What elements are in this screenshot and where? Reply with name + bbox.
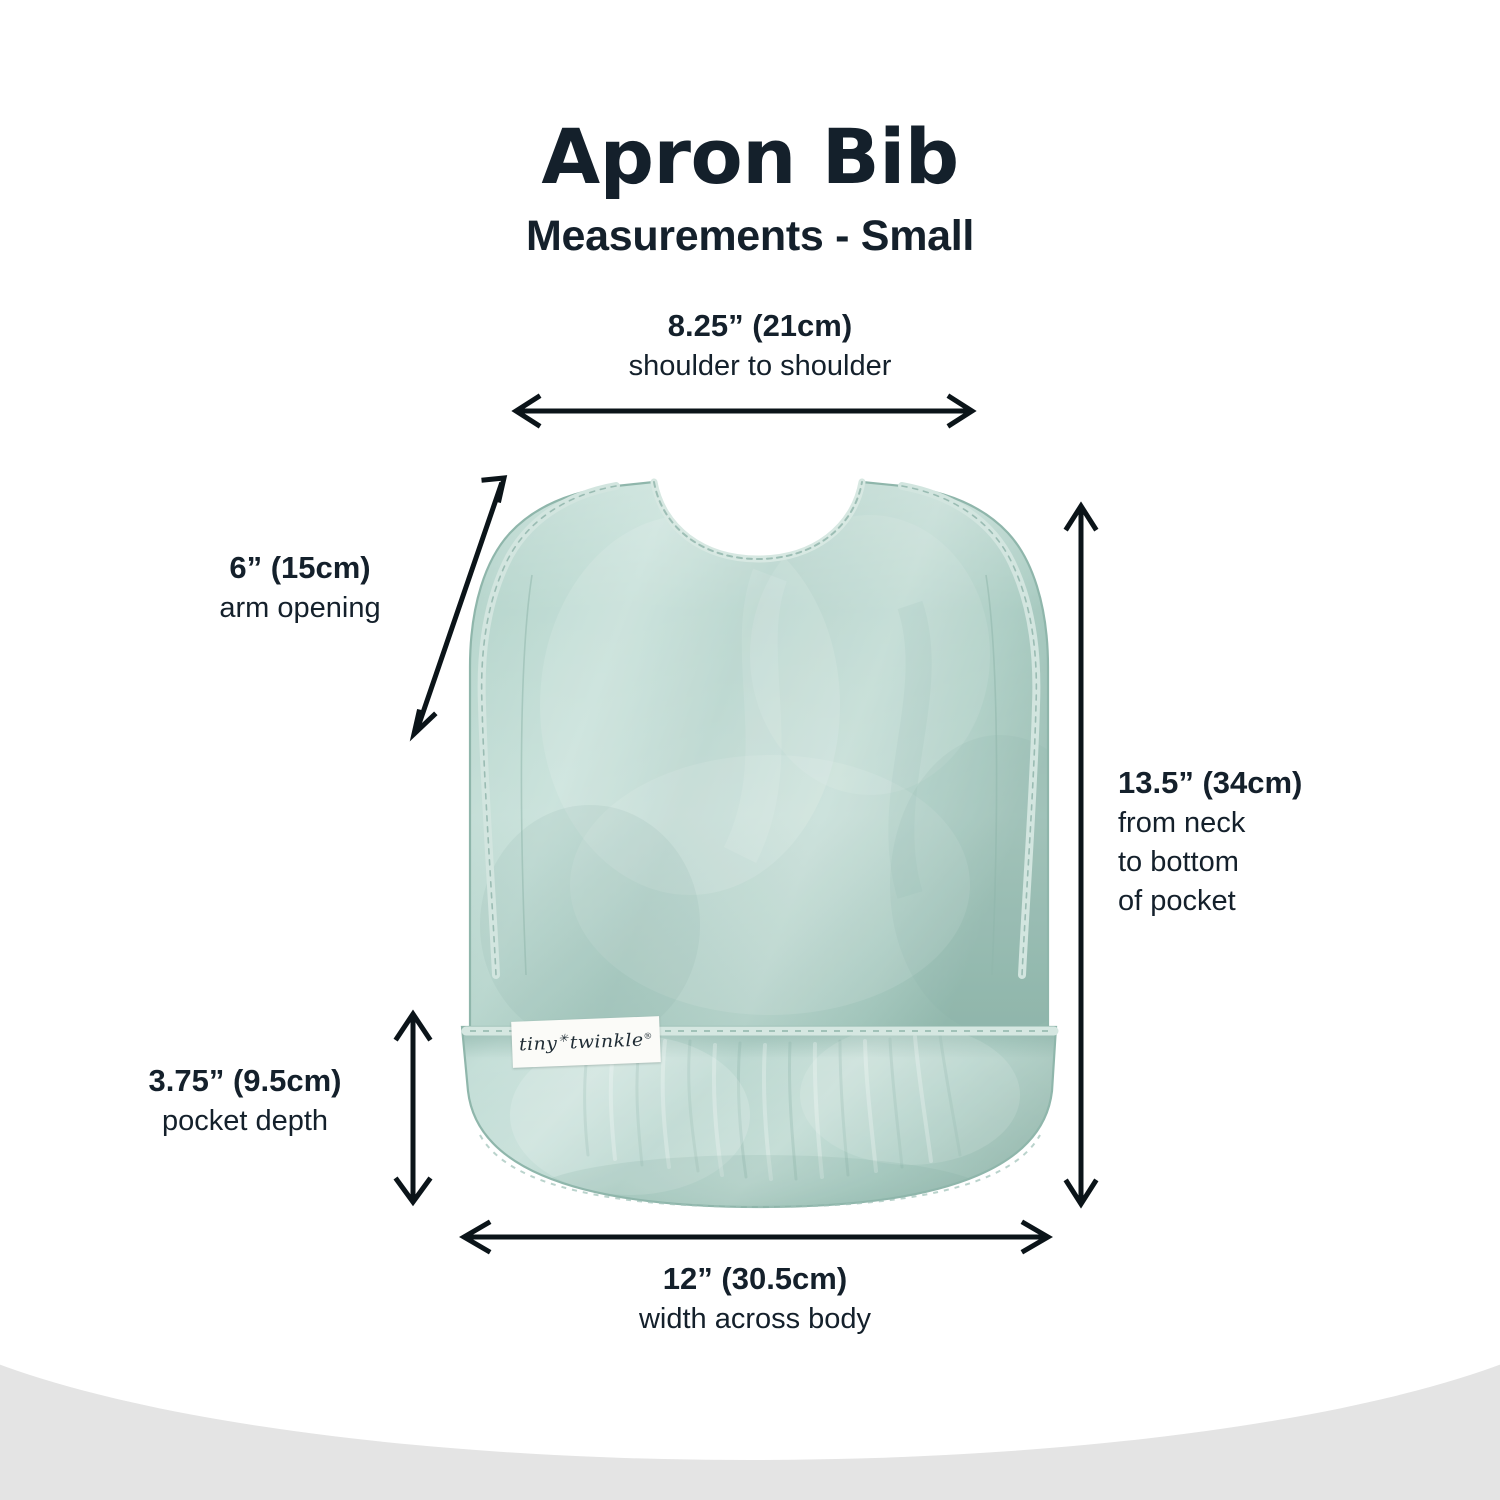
- measurement-value: 13.5” (34cm): [1118, 762, 1418, 804]
- brand-star-icon: ✳: [558, 1032, 569, 1045]
- measurement-pocket-depth: 3.75” (9.5cm) pocket depth: [110, 1060, 380, 1141]
- arrow-pocket-depth: [390, 1002, 436, 1214]
- measurement-description-line-1: from neck: [1118, 804, 1418, 843]
- measurement-description: width across body: [455, 1300, 1055, 1339]
- measurement-shoulder-to-shoulder: 8.25” (21cm) shoulder to shoulder: [450, 305, 1070, 386]
- registered-mark-icon: ®: [643, 1032, 653, 1042]
- bottom-decorative-band: [0, 1360, 1500, 1500]
- page-subtitle: Measurements - Small: [0, 212, 1500, 261]
- measurement-value: 8.25” (21cm): [450, 305, 1070, 347]
- measurement-width-across-body: 12” (30.5cm) width across body: [455, 1258, 1055, 1339]
- brand-label-text: tiny✳twinkle®: [519, 1029, 654, 1056]
- measurement-description: pocket depth: [110, 1102, 380, 1141]
- apron-bib-illustration: [440, 455, 1080, 1215]
- brand-name-part2: twinkle: [569, 1030, 644, 1053]
- bottom-band-arc: [0, 1360, 1500, 1460]
- brand-name-part1: tiny: [519, 1034, 558, 1056]
- arrow-arm-opening: [400, 468, 520, 748]
- bib-body: [440, 455, 1080, 1055]
- bib-vector-graphic: [440, 455, 1080, 1215]
- arrow-neck-to-pocket: [1058, 492, 1104, 1218]
- measurement-description-line-2: to bottom: [1118, 843, 1418, 882]
- measurement-diagram-page: Apron Bib Measurements - Small: [0, 0, 1500, 1500]
- arrow-width-across-body: [450, 1218, 1060, 1258]
- page-title: Apron Bib: [0, 118, 1500, 196]
- measurement-value: 12” (30.5cm): [455, 1258, 1055, 1300]
- measurement-description: shoulder to shoulder: [450, 347, 1070, 386]
- measurement-description-line-3: of pocket: [1118, 882, 1418, 921]
- brand-label-tag: tiny✳twinkle®: [511, 1016, 661, 1068]
- measurement-neck-to-pocket: 13.5” (34cm) from neck to bottom of pock…: [1118, 762, 1418, 922]
- measurement-description: arm opening: [170, 589, 430, 628]
- arrow-shoulder-to-shoulder: [500, 392, 1000, 432]
- measurement-value: 6” (15cm): [170, 547, 430, 589]
- measurement-arm-opening: 6” (15cm) arm opening: [170, 547, 430, 628]
- measurement-value: 3.75” (9.5cm): [110, 1060, 380, 1102]
